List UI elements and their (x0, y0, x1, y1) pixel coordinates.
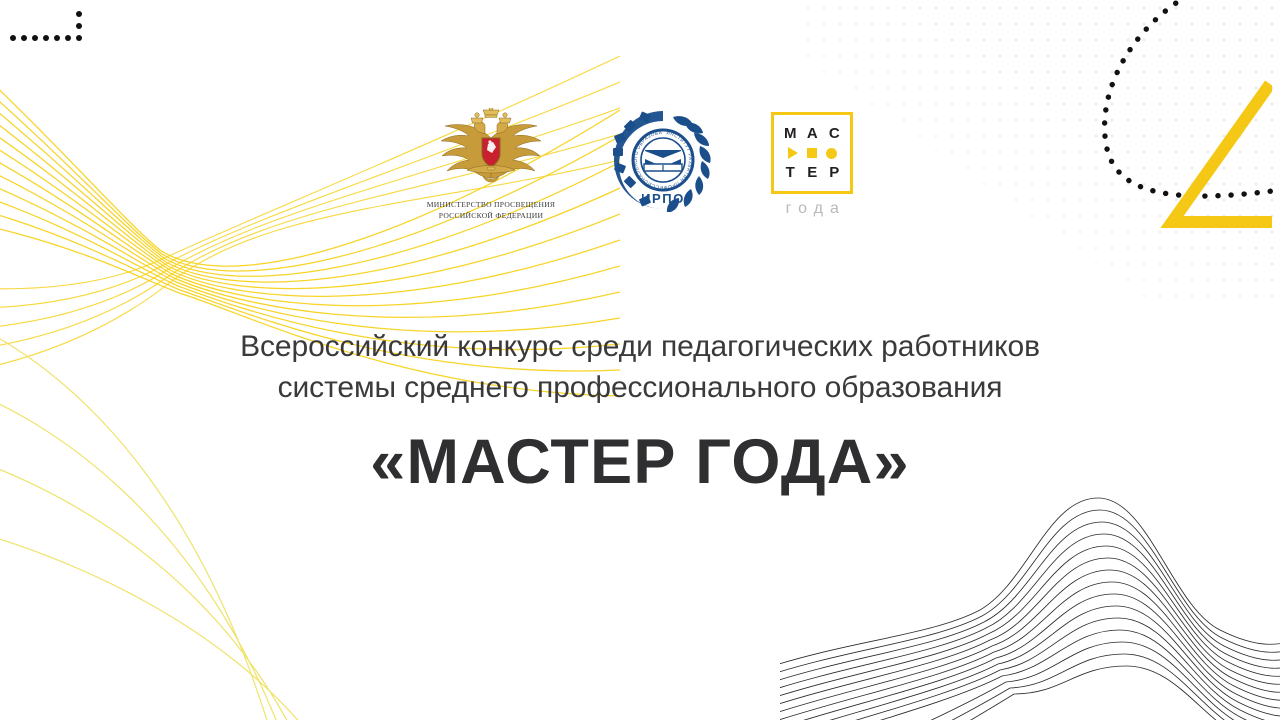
event-subtitle: Всероссийский конкурс среди педагогическ… (0, 326, 1280, 408)
square-shape-icon (807, 148, 817, 158)
master-logo-box: М А С Т Е Р (771, 112, 853, 194)
irpo-abbreviation: ИРПО (641, 191, 685, 206)
ministry-caption-line2: РОССИЙСКОЙ ФЕДЕРАЦИИ (439, 211, 543, 220)
logo-row: МИНИСТЕРСТВО ПРОСВЕЩЕНИЯРОССИЙСКОЙ ФЕДЕР… (0, 108, 1280, 221)
irpo-book-gear-icon: ИНСТИТУТ РАЗВИТИЯ ПРОФЕССИОНАЛЬНОГО ОБРА… (611, 108, 715, 212)
ministry-caption: МИНИСТЕРСТВО ПРОСВЕЩЕНИЯРОССИЙСКОЙ ФЕДЕР… (427, 200, 556, 221)
master-bottom-letters: Т Е Р (776, 165, 848, 180)
master-letter-a: А (805, 126, 819, 141)
dot-corner-marker-top-left (8, 8, 88, 54)
presentation-slide: МИНИСТЕРСТВО ПРОСВЕЩЕНИЯРОССИЙСКОЙ ФЕДЕР… (0, 0, 1280, 720)
triangle-shape-icon (788, 147, 798, 159)
circle-shape-icon (826, 148, 837, 159)
event-subtitle-line1: Всероссийский конкурс среди педагогическ… (0, 326, 1280, 367)
master-letter-m: М (783, 126, 797, 141)
logo-master-goda: М А С Т Е Р года (771, 108, 853, 217)
page-title: «МАСТЕР ГОДА» (0, 424, 1280, 500)
event-subtitle-line2: системы среднего профессионального образ… (0, 367, 1280, 408)
logo-irpo: ИНСТИТУТ РАЗВИТИЯ ПРОФЕССИОНАЛЬНОГО ОБРА… (611, 108, 715, 212)
master-top-letters: М А С (776, 126, 848, 141)
master-letter-r: Р (827, 165, 841, 180)
master-subtitle: года (779, 201, 846, 217)
master-shape-row (776, 147, 848, 159)
ministry-caption-line1: МИНИСТЕРСТВО ПРОСВЕЩЕНИЯ (427, 200, 556, 209)
master-letter-t: Т (783, 165, 797, 180)
master-letter-s: С (827, 126, 841, 141)
logo-ministry-of-education: МИНИСТЕРСТВО ПРОСВЕЩЕНИЯРОССИЙСКОЙ ФЕДЕР… (427, 108, 556, 221)
master-letter-e: Е (805, 165, 819, 180)
russian-coat-of-arms-icon (435, 108, 547, 194)
black-waves-bottom-right (780, 490, 1280, 720)
